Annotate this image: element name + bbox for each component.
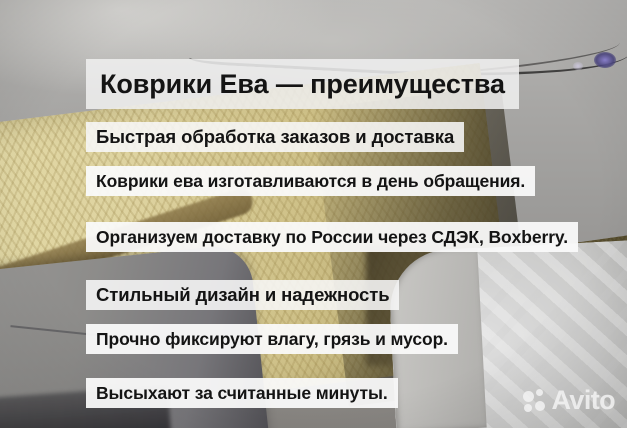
- benefit-heading-delivery: Быстрая обработка заказов и доставка: [86, 122, 464, 152]
- benefit-text-traps-dirt: Прочно фиксируют влагу, грязь и мусор.: [86, 324, 458, 354]
- avito-logo-icon: [523, 389, 547, 413]
- avito-wordmark: Avito: [552, 387, 616, 414]
- benefit-text-shipping-partners: Организуем доставку по России через СДЭК…: [86, 222, 578, 252]
- promo-image: Коврики Ева — преимущества Быстрая обраб…: [0, 0, 627, 428]
- avito-watermark: Avito: [523, 387, 616, 414]
- benefit-heading-design: Стильный дизайн и надежность: [86, 280, 399, 310]
- benefit-text-dries-fast: Высыхают за считанные минуты.: [86, 378, 398, 408]
- benefit-text-production-day: Коврики ева изготавливаются в день обращ…: [86, 166, 535, 196]
- promo-title: Коврики Ева — преимущества: [86, 59, 519, 109]
